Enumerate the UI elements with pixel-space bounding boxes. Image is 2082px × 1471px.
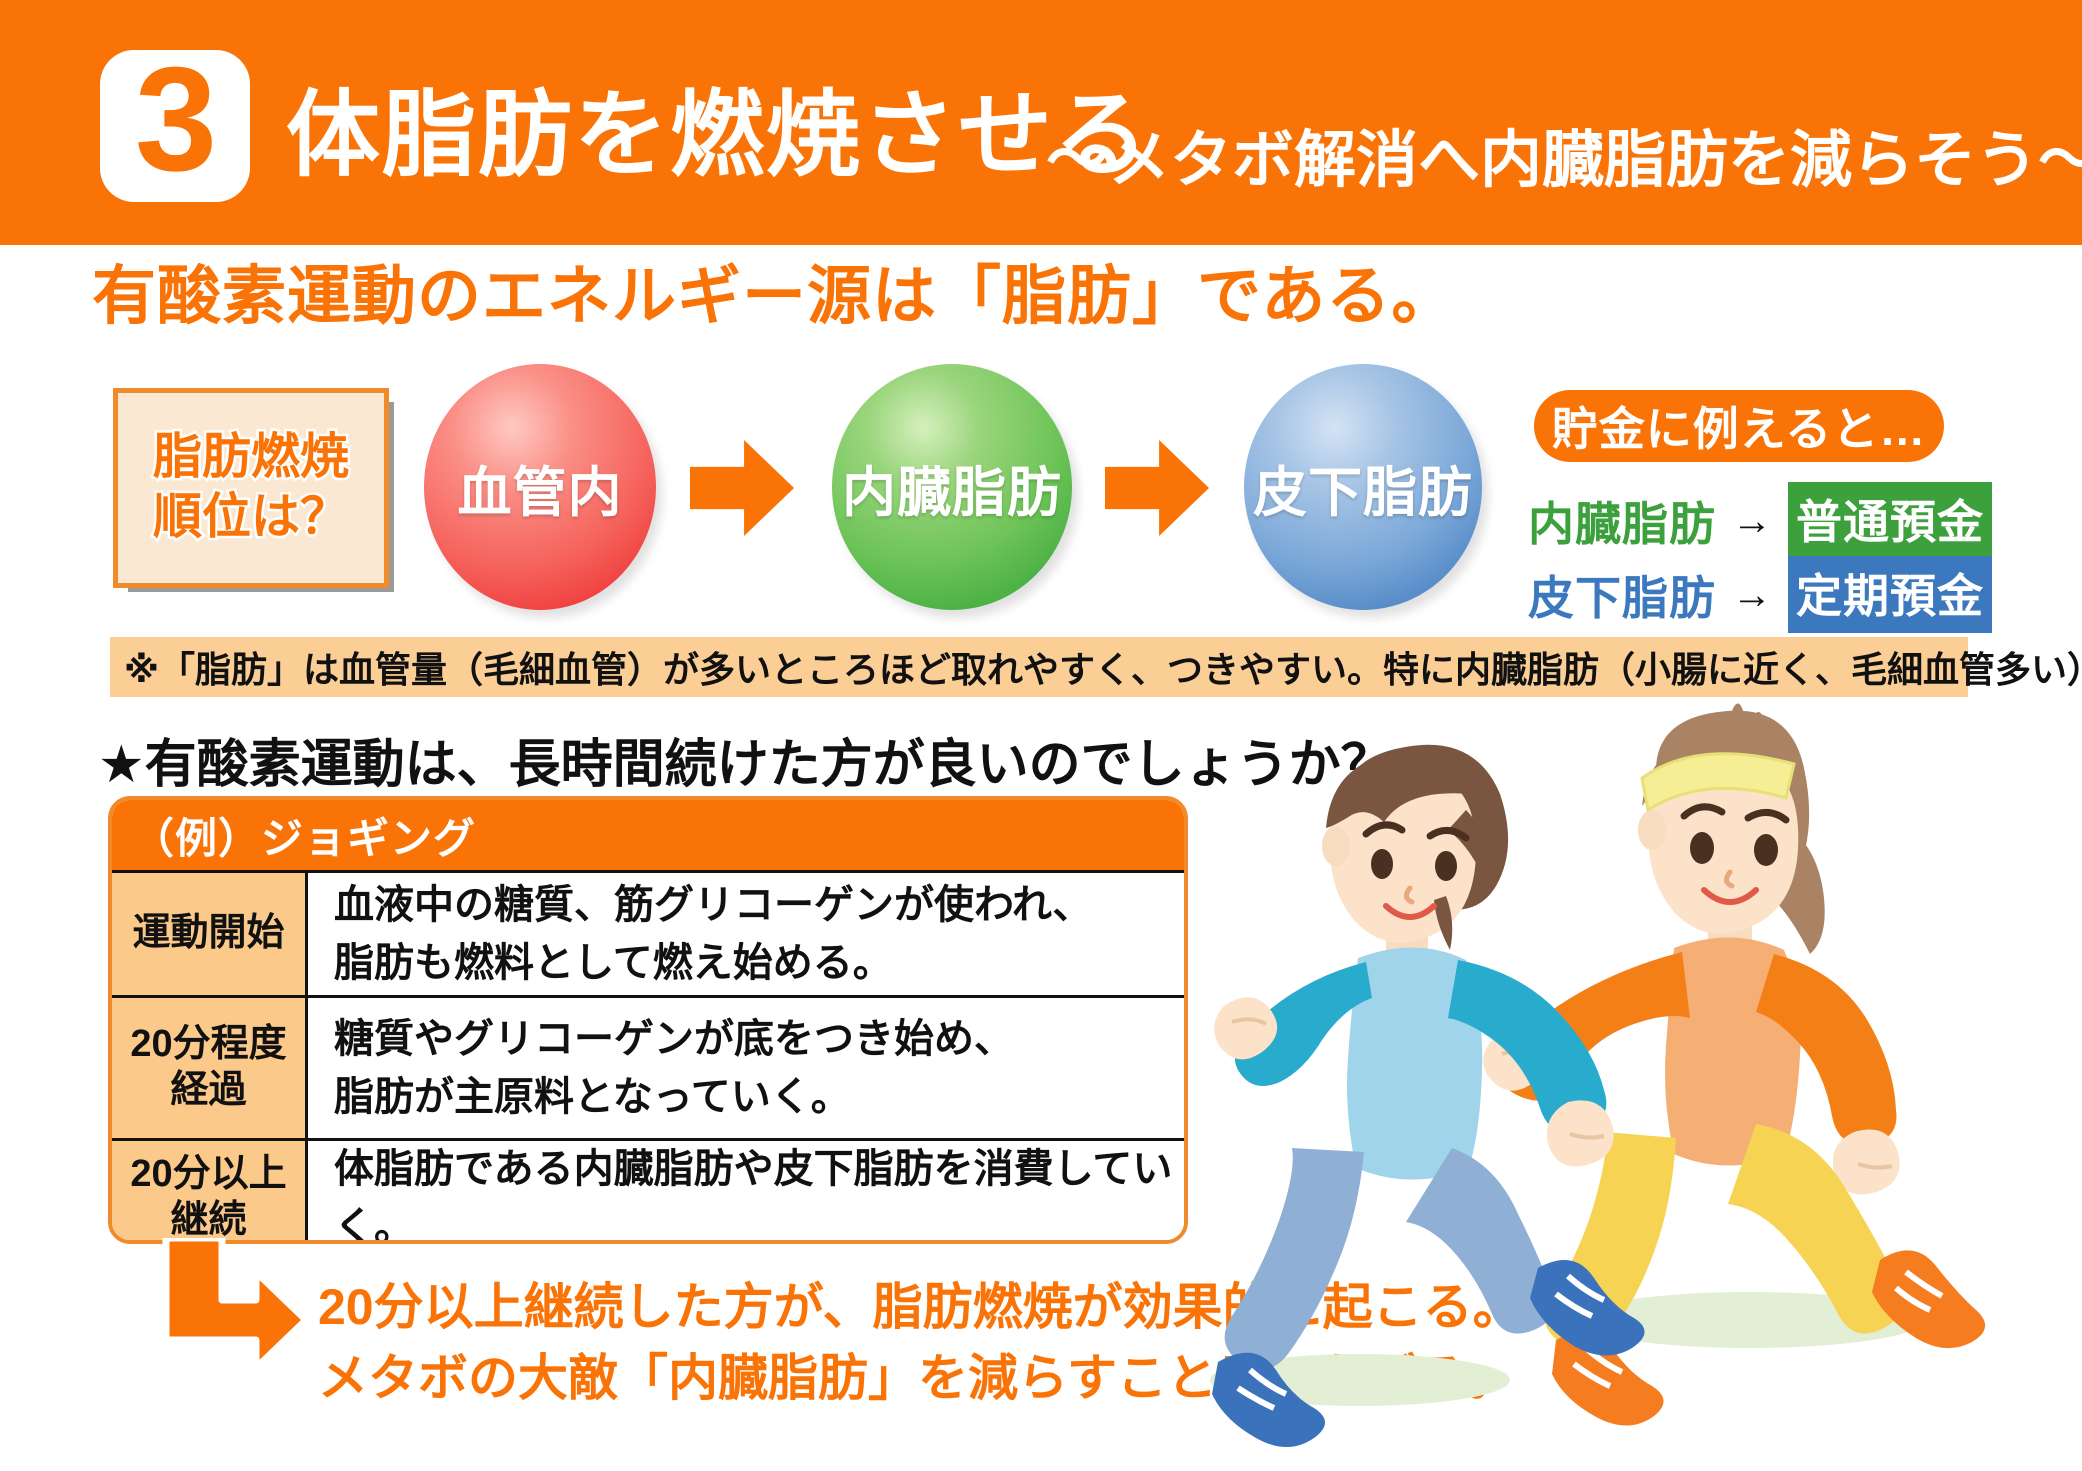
savings-row-subcutaneous: 皮下脂肪 → 定期預金 [1528, 556, 1992, 633]
footnote-text: ※「脂肪」は血管量（毛細血管）が多いところほど取れやすく、つきやすい。特に内臓脂… [110, 641, 2082, 693]
table-row-text-2: 体脂肪である内臓脂肪や皮下脂肪を消費していく。 [334, 1140, 1184, 1245]
sphere-label-0: 血管内 [458, 448, 623, 527]
table-row-label-cell: 運動開始 [112, 873, 308, 995]
table-row-text-0-line1: 血液中の糖質、筋グリコーゲンが使われ、 [334, 883, 1092, 927]
table-row-label-2-line1: 20分以上 [130, 1153, 286, 1195]
table-row: 20分以上 継続 体脂肪である内臓脂肪や皮下脂肪を消費していく。 [112, 1138, 1184, 1244]
table-row-text-cell: 体脂肪である内臓脂肪や皮下脂肪を消費していく。 [308, 1141, 1184, 1244]
table-row: 運動開始 血液中の糖質、筋グリコーゲンが使われ、 脂肪も燃料として燃え始める。 [112, 870, 1184, 995]
fat-burn-order-box: 脂肪燃焼 順位は？ [113, 388, 389, 588]
savings-chip-0: 普通預金 [1788, 482, 1992, 559]
table-row-text-0: 血液中の糖質、筋グリコーゲンが使われ、 脂肪も燃料として燃え始める。 [334, 876, 1092, 992]
infographic-page: 3 体脂肪を燃焼させる ～メタボ解消へ内臓脂肪を減らそう～ 有酸素運動のエネルギ… [0, 0, 2082, 1471]
table-row-label-cell: 20分以上 継続 [112, 1141, 308, 1244]
right-arrow-icon-1 [690, 440, 794, 536]
footnote-band: ※「脂肪」は血管量（毛細血管）が多いところほど取れやすく、つきやすい。特に内臓脂… [110, 637, 1968, 697]
lead-statement: 有酸素運動のエネルギー源は「脂肪」である。 [92, 264, 1456, 328]
page-title: 体脂肪を燃焼させる [286, 88, 1150, 182]
arrow-right-icon-savings-0: → [1732, 501, 1772, 541]
order-box-line1: 脂肪燃焼 [153, 428, 349, 488]
table-row-text-0-line2: 脂肪も燃料として燃え始める。 [334, 941, 893, 985]
order-box-line2: 順位は？ [153, 488, 349, 548]
table-row-label-0: 運動開始 [132, 911, 284, 957]
table-row: 20分程度 経過 糖質やグリコーゲンが底をつき始め、 脂肪が主原料となっていく。 [112, 995, 1184, 1138]
table-header-label: （例）ジョギング [112, 805, 476, 866]
page-subtitle: ～メタボ解消へ内臓脂肪を減らそう～ [1046, 130, 2082, 192]
right-arrow-icon-2 [1105, 440, 1209, 536]
savings-analogy-badge: 貯金に例えると… [1534, 390, 1944, 462]
section-number-badge: 3 [100, 50, 250, 202]
joggers-illustration [1190, 700, 2080, 1460]
section-number: 3 [135, 46, 215, 194]
sphere-label-2: 皮下脂肪 [1253, 448, 1473, 527]
table-row-label-2-line2: 継続 [170, 1199, 246, 1241]
table-row-label-1-line2: 経過 [170, 1069, 246, 1111]
bent-arrow-icon [160, 1238, 310, 1378]
table-row-text-1: 糖質やグリコーゲンが底をつき始め、 脂肪が主原料となっていく。 [334, 1010, 1014, 1126]
savings-label-0: 内臓脂肪 [1528, 488, 1716, 554]
runner-man [1212, 745, 1645, 1447]
jogging-table: （例）ジョギング 運動開始 血液中の糖質、筋グリコーゲンが使われ、 脂肪も燃料と… [108, 796, 1188, 1244]
table-row-label-cell: 20分程度 経過 [112, 998, 308, 1138]
table-row-label-1: 20分程度 経過 [130, 1022, 286, 1113]
table-row-text-1-line1: 糖質やグリコーゲンが底をつき始め、 [334, 1017, 1014, 1061]
savings-badge-label: 貯金に例えると… [1552, 393, 1927, 459]
table-row-text-1-line2: 脂肪が主原料となっていく。 [334, 1075, 851, 1119]
sphere-blood-vessel: 血管内 [424, 364, 656, 610]
arrow-right-icon-savings-1: → [1732, 575, 1772, 615]
savings-row-visceral: 内臓脂肪 → 普通預金 [1528, 482, 1992, 559]
sphere-visceral-fat: 内臓脂肪 [832, 364, 1072, 610]
table-row-text-cell: 糖質やグリコーゲンが底をつき始め、 脂肪が主原料となっていく。 [308, 998, 1184, 1138]
savings-label-1: 皮下脂肪 [1528, 562, 1716, 628]
sphere-subcutaneous-fat: 皮下脂肪 [1244, 364, 1482, 610]
header-band: 3 体脂肪を燃焼させる ～メタボ解消へ内臓脂肪を減らそう～ [0, 0, 2082, 245]
savings-chip-1: 定期預金 [1788, 556, 1992, 633]
table-header: （例）ジョギング [112, 800, 1184, 870]
sphere-label-1: 内臓脂肪 [842, 448, 1062, 527]
table-row-label-2: 20分以上 継続 [130, 1152, 286, 1243]
table-row-label-1-line1: 20分程度 [130, 1023, 286, 1065]
table-row-text-cell: 血液中の糖質、筋グリコーゲンが使われ、 脂肪も燃料として燃え始める。 [308, 873, 1184, 995]
